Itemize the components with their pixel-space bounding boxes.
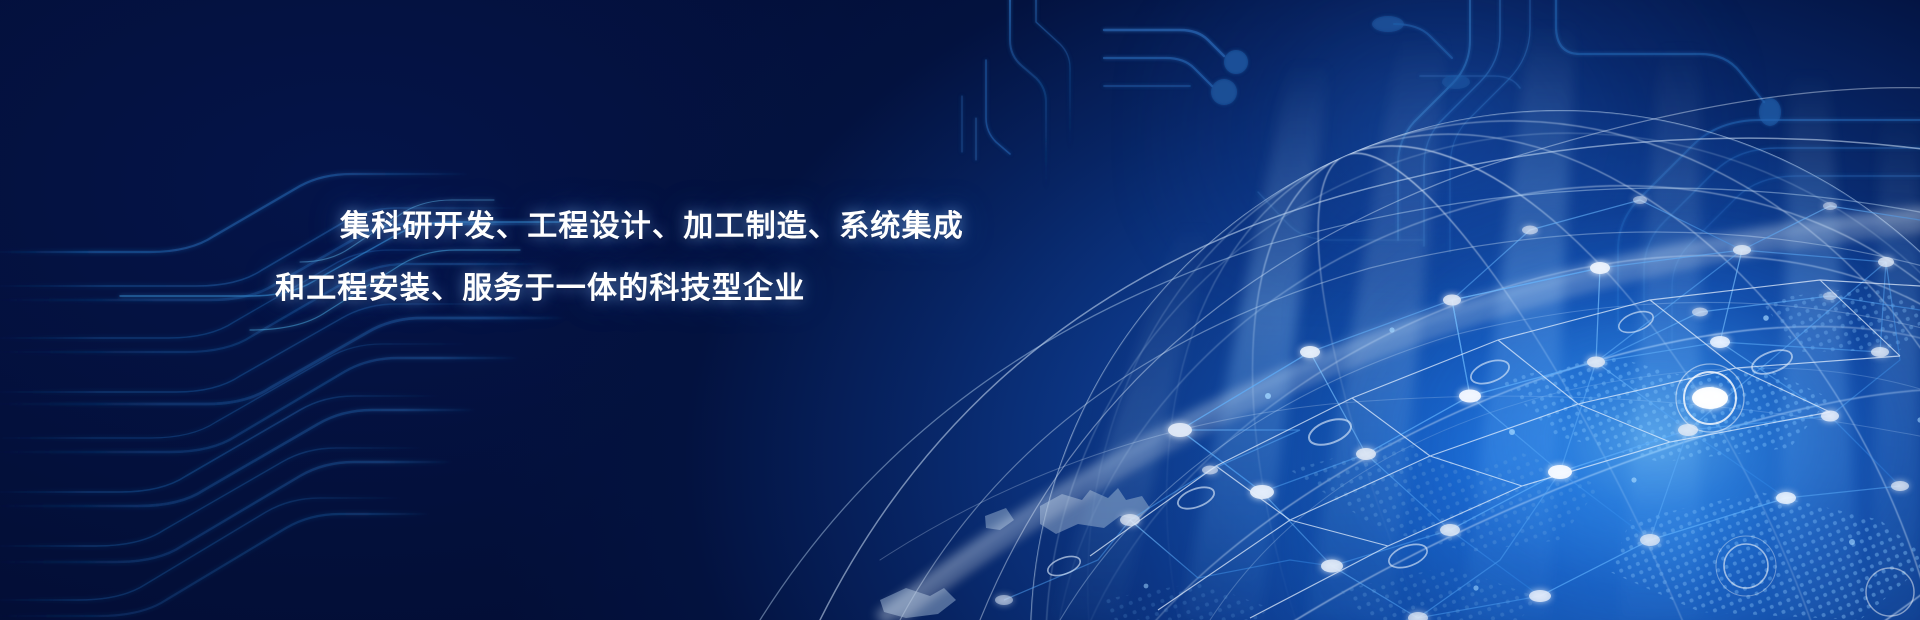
hero-banner: 集科研开发、工程设计、加工制造、系统集成 和工程安装、服务于一体的科技型企业 — [0, 0, 1920, 620]
headline-block: 集科研开发、工程设计、加工制造、系统集成 和工程安装、服务于一体的科技型企业 — [275, 196, 1035, 320]
headline-line-1: 集科研开发、工程设计、加工制造、系统集成 — [275, 196, 1035, 258]
headline-line-2: 和工程安装、服务于一体的科技型企业 — [275, 258, 1035, 320]
